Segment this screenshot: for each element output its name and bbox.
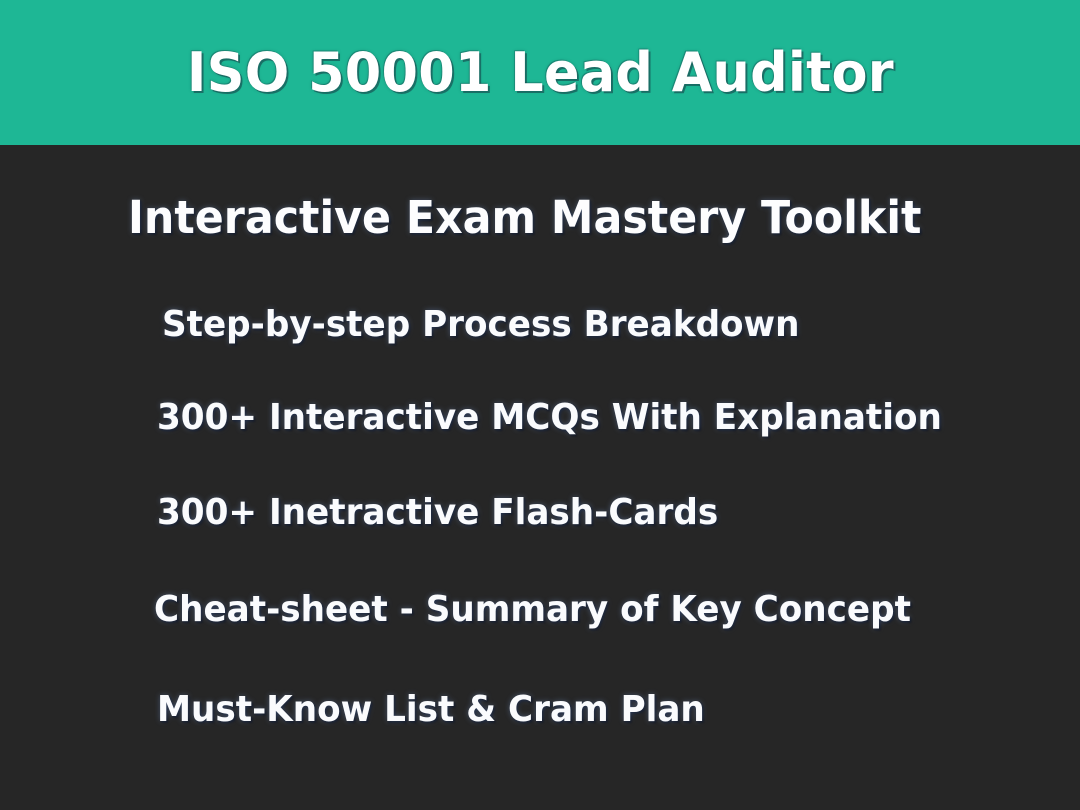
list-item: 300+ Interactive MCQs With Explanation xyxy=(157,400,942,436)
list-item: Cheat-sheet - Summary of Key Concept xyxy=(154,592,911,628)
list-item: Must-Know List & Cram Plan xyxy=(157,692,705,728)
slide-root: ISO 50001 Lead Auditor Interactive Exam … xyxy=(0,0,1080,810)
toolkit-heading: Interactive Exam Mastery Toolkit xyxy=(128,195,921,240)
content-area: Interactive Exam Mastery Toolkit Step-by… xyxy=(0,145,1080,810)
page-title: ISO 50001 Lead Auditor xyxy=(187,46,894,100)
list-item: Step-by-step Process Breakdown xyxy=(162,307,799,343)
header-band: ISO 50001 Lead Auditor xyxy=(0,0,1080,145)
list-item: 300+ Inetractive Flash-Cards xyxy=(157,495,718,531)
